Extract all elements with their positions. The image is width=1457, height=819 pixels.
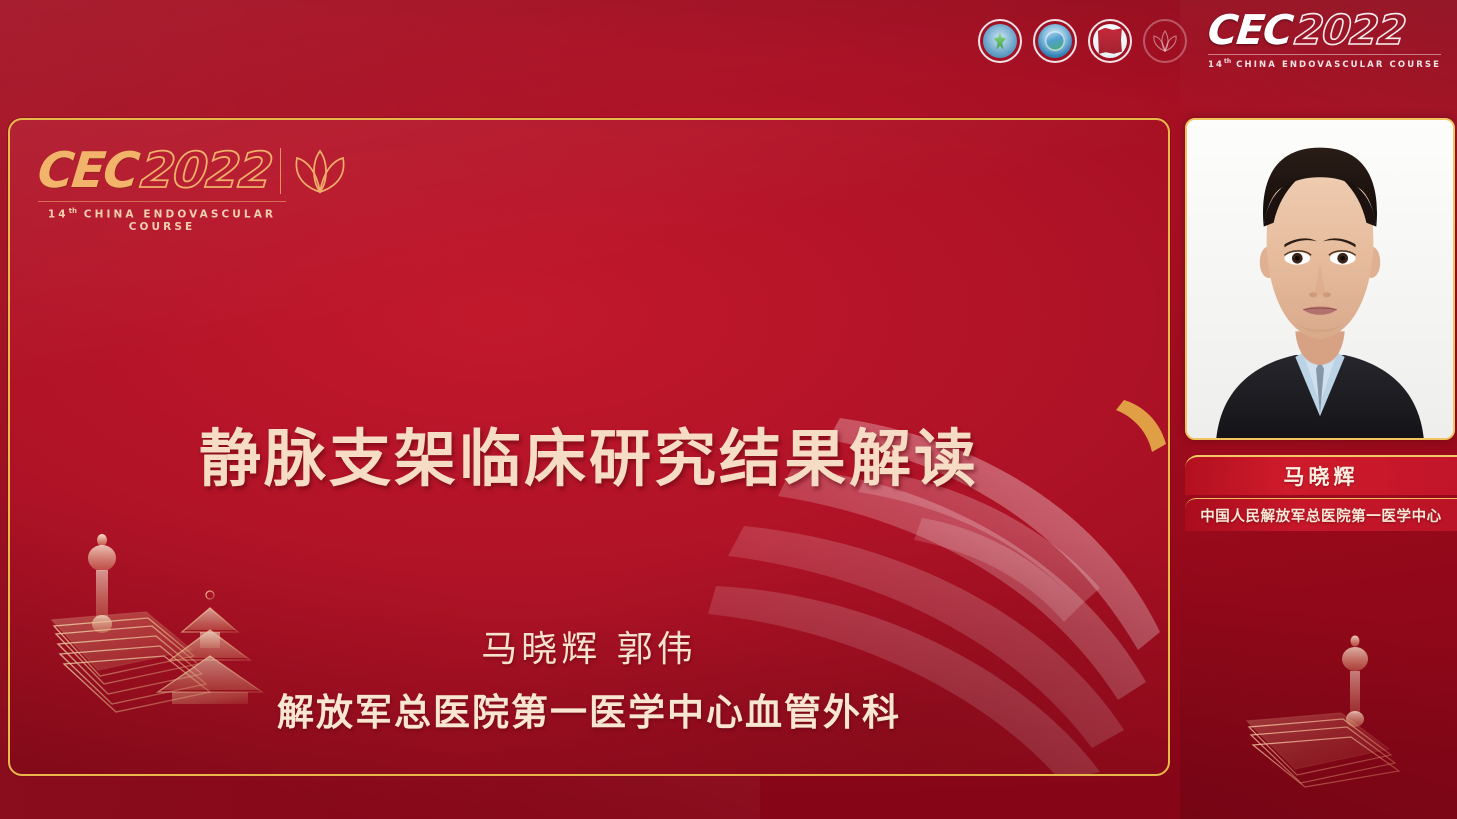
china-medical-association-emblem-icon: [978, 19, 1022, 63]
red-seal-emblem-icon: [1088, 19, 1132, 63]
speaker-panel: 马晓辉 中国人民解放军总医院第一医学中心: [1180, 0, 1457, 819]
top-bar: CEC 2022 14th CHINA ENDOVASCULAR COURSE: [0, 0, 1457, 92]
header-cec-text: CEC: [1206, 12, 1294, 50]
slide-authors: 马晓辉 郭伟: [10, 620, 1168, 672]
slide-cec-logo: CEC 2022 14th CHINA ENDOVASCULAR COURSE: [38, 148, 348, 233]
lotus-icon: [292, 148, 348, 194]
header-cec-logo: CEC 2022 14th CHINA ENDOVASCULAR COURSE: [1208, 12, 1441, 70]
header-brand-row: CEC 2022 14th CHINA ENDOVASCULAR COURSE: [978, 12, 1441, 70]
logo-divider: [280, 148, 282, 194]
speaker-name-plate: 马晓辉: [1185, 455, 1457, 495]
speaker-institution: 中国人民解放军总医院第一医学中心: [1200, 505, 1442, 526]
slide-edition-suffix: th: [69, 207, 77, 215]
speaker-portrait: [1187, 120, 1453, 438]
slide-cec-text: CEC: [36, 149, 140, 193]
speaker-portrait-frame[interactable]: [1185, 118, 1455, 440]
oriental-pearl-tower-icon: [1205, 579, 1435, 789]
vascular-society-emblem-icon: [1033, 19, 1077, 63]
header-tagline-text: CHINA ENDOVASCULAR COURSE: [1236, 60, 1441, 70]
slide-edition-number: 14: [48, 209, 69, 221]
header-year-text: 2022: [1293, 12, 1407, 50]
slide-tagline-text: CHINA ENDOVASCULAR COURSE: [84, 209, 276, 233]
speaker-institution-plate: 中国人民解放军总医院第一医学中心: [1185, 498, 1457, 531]
lotus-outline-emblem-icon: [1143, 19, 1187, 63]
header-tagline: 14th CHINA ENDOVASCULAR COURSE: [1208, 54, 1441, 70]
presentation-slide[interactable]: CEC 2022 14th CHINA ENDOVASCULAR COURSE …: [8, 118, 1170, 776]
slide-year-text: 2022: [139, 149, 274, 193]
slide-logo-tagline: 14th CHINA ENDOVASCULAR COURSE: [38, 201, 286, 233]
slide-affiliation: 解放军总医院第一医学中心血管外科: [10, 682, 1168, 736]
header-edition-number: 14: [1208, 60, 1224, 70]
header-edition-suffix: th: [1224, 58, 1231, 65]
slide-title: 静脉支架临床研究结果解读: [10, 408, 1168, 498]
speaker-name: 马晓辉: [1284, 461, 1359, 491]
